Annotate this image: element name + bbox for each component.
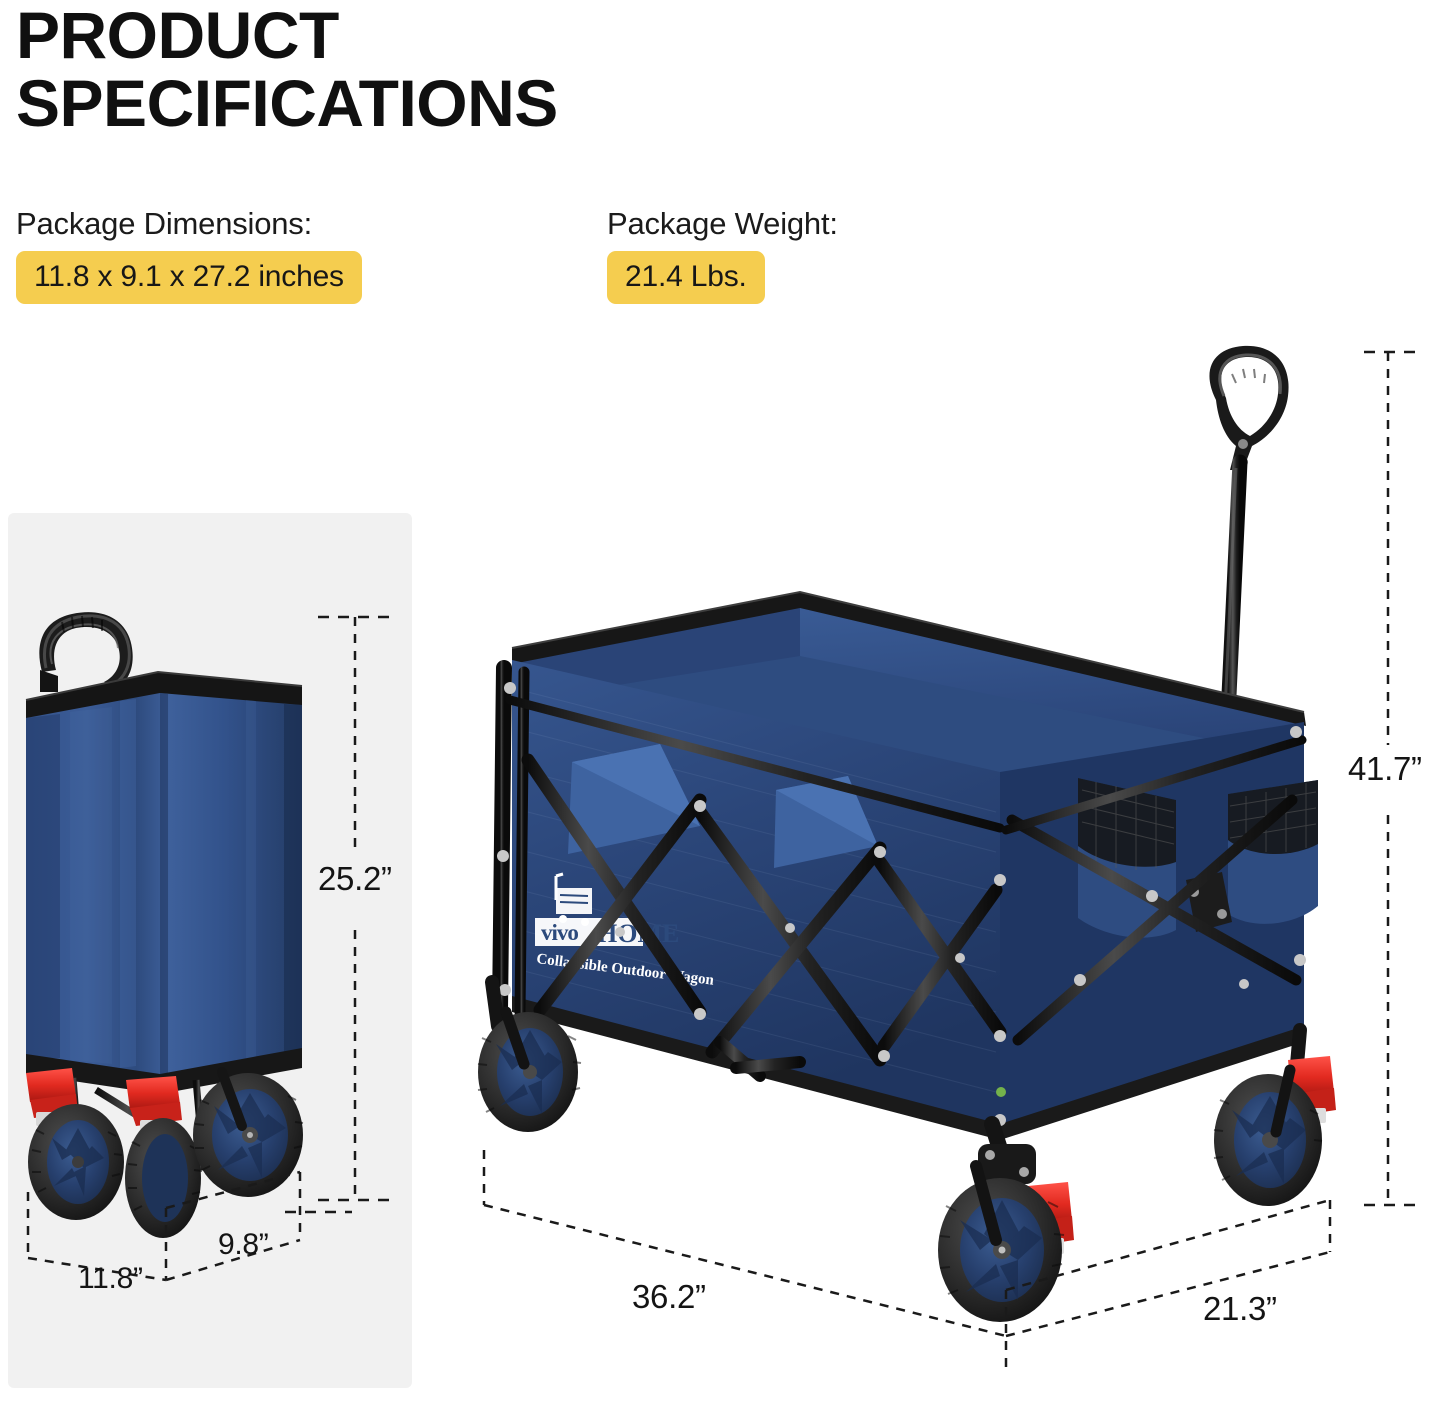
dimension-label-open-length: 36.2”: [632, 1278, 706, 1316]
package-dimensions-block: Package Dimensions: 11.8 x 9.1 x 27.2 in…: [16, 206, 362, 304]
open-wagon-group: vivo HOME Collapsible Outdoor Wagon: [478, 346, 1336, 1322]
wagon-frame: [500, 668, 1304, 1130]
interior-flaps: [568, 744, 878, 868]
folded-wagon-panel: [8, 513, 412, 1388]
frame-rivets: [497, 682, 1306, 1126]
page-title: PRODUCT SPECIFICATIONS: [16, 2, 916, 138]
package-dimensions-badge: 11.8 x 9.1 x 27.2 inches: [16, 251, 362, 304]
dimension-label-folded-height: 25.2”: [318, 860, 392, 898]
svg-text:HOME: HOME: [597, 919, 679, 948]
svg-text:vivo: vivo: [541, 920, 578, 945]
wheel: [938, 1124, 1074, 1322]
dimension-label-open-height: 41.7”: [1348, 750, 1422, 788]
package-weight-badge: 21.4 Lbs.: [607, 251, 765, 304]
dimension-label-open-width: 21.3”: [1203, 1290, 1277, 1328]
open-dimension-lines: [484, 352, 1424, 1370]
wagon-pull-handle: [1209, 346, 1288, 716]
package-weight-label: Package Weight:: [607, 206, 838, 242]
dimension-label-folded-depth: 9.8”: [218, 1228, 269, 1262]
brand-logo: vivo HOME Collapsible Outdoor Wagon: [535, 874, 715, 989]
wheel: [1214, 1030, 1336, 1206]
frame-x-braces: [528, 760, 1000, 1060]
cup-holders: [1078, 778, 1318, 938]
dimension-label-folded-width: 11.8”: [78, 1262, 143, 1296]
package-weight-block: Package Weight: 21.4 Lbs.: [607, 206, 838, 304]
wheel: [478, 982, 581, 1132]
package-dimensions-label: Package Dimensions:: [16, 206, 362, 242]
product-specifications-page: PRODUCT SPECIFICATIONS Package Dimension…: [0, 0, 1445, 1407]
svg-text:Collapsible Outdoor Wagon: Collapsible Outdoor Wagon: [536, 951, 716, 989]
